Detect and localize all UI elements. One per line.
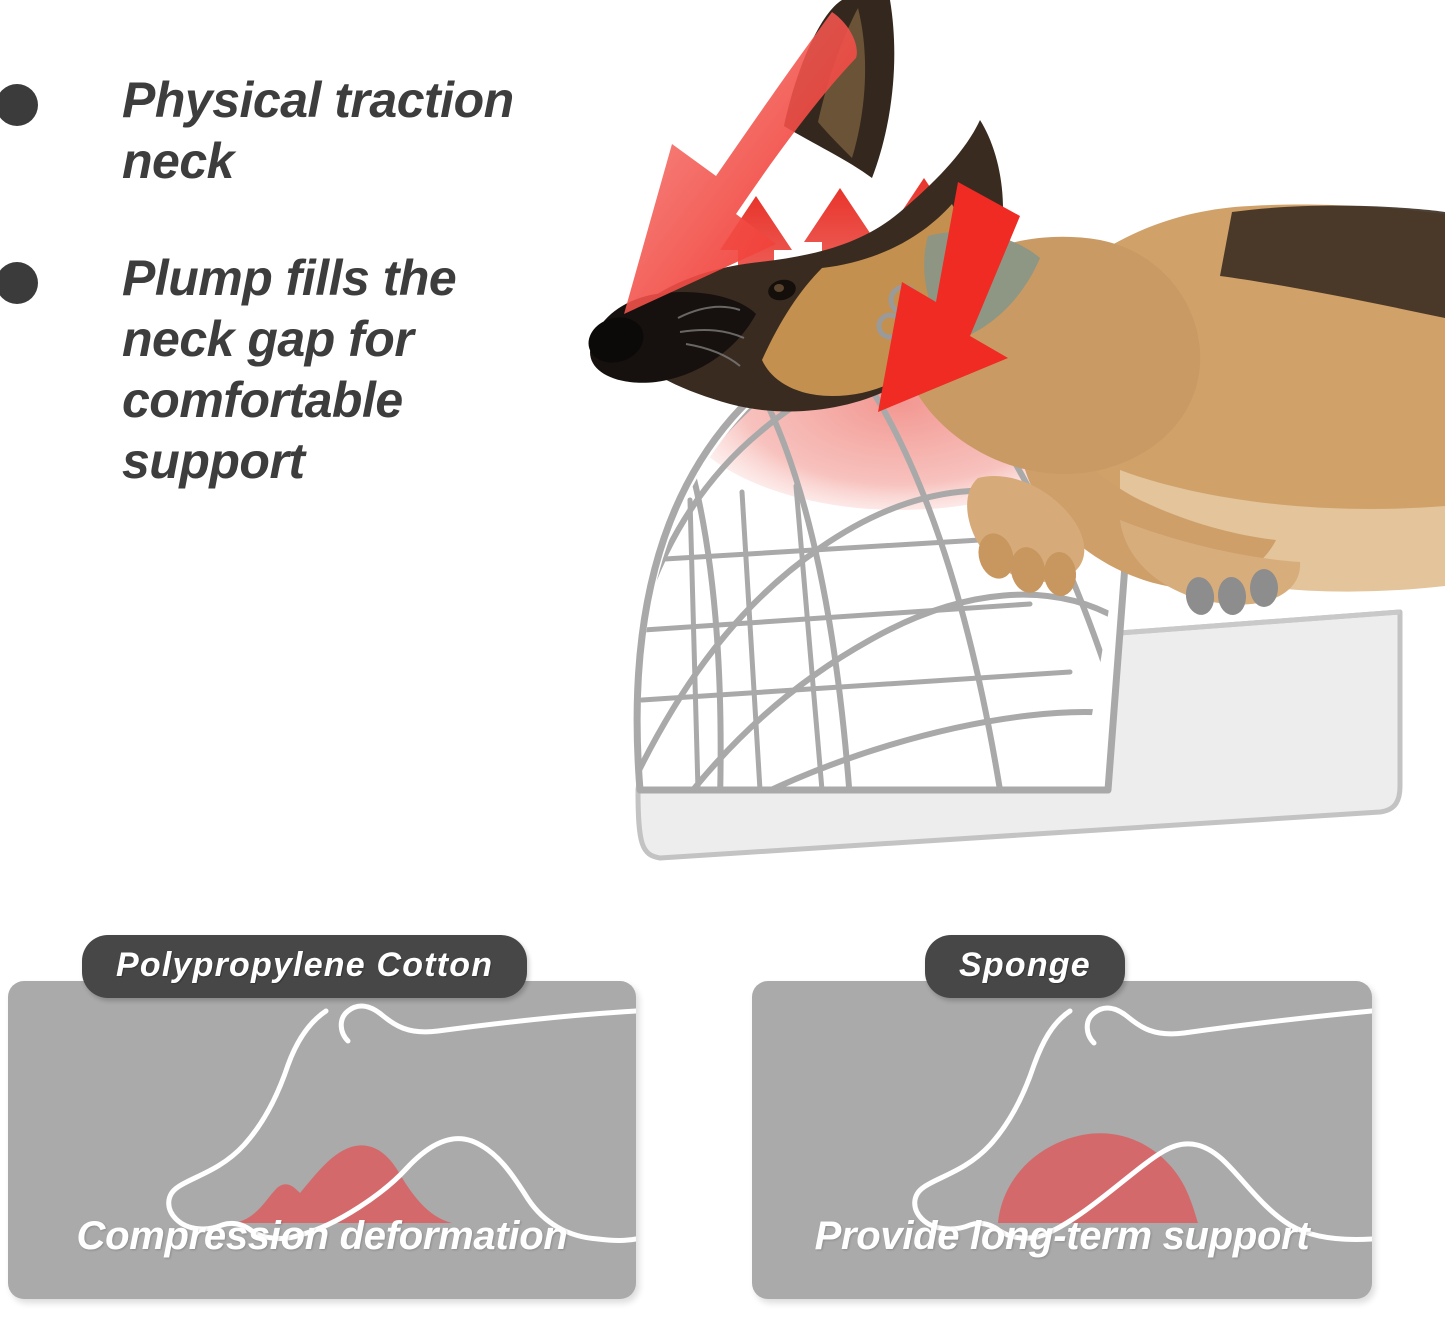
- badge-sponge: Sponge: [925, 935, 1125, 998]
- bullet-dot-icon: [0, 262, 38, 304]
- comparison-panels: Compression deformation Polypropylene Co…: [0, 935, 1445, 1330]
- panel-caption: Compression deformation: [8, 1214, 636, 1259]
- panel-polypropylene-cotton: Compression deformation: [8, 981, 636, 1299]
- hero-illustration: [560, 0, 1445, 900]
- bullet-dot-icon: [0, 84, 38, 126]
- panel-sponge: Provide long-term support: [752, 981, 1372, 1299]
- feature-text: Physical traction neck: [122, 70, 514, 192]
- badge-polypropylene-cotton: Polypropylene Cotton: [82, 935, 527, 998]
- infographic-page: Physical traction neck Plump fills the n…: [0, 0, 1445, 1332]
- feature-text: Plump fills the neck gap for comfortable…: [122, 248, 456, 492]
- panel-caption: Provide long-term support: [752, 1214, 1372, 1259]
